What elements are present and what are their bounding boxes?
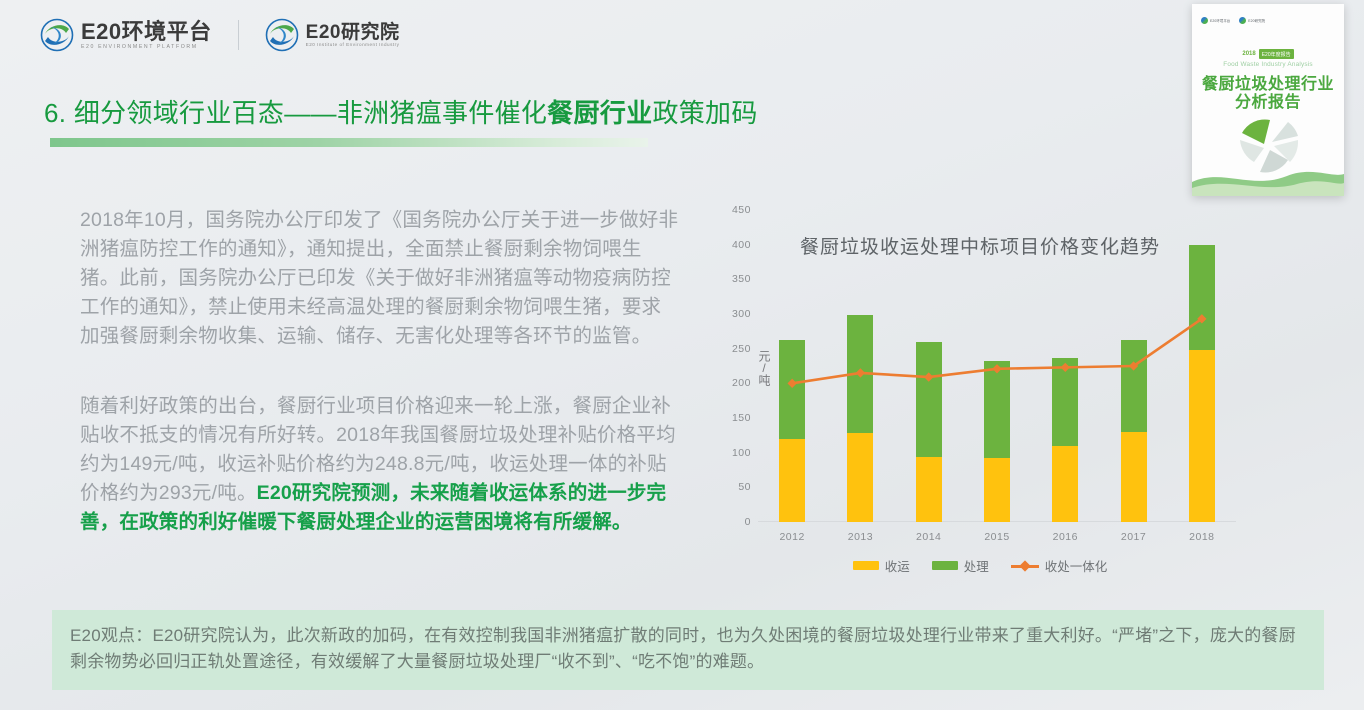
cover-logo-label: E20环境平台 [1210,18,1230,23]
logo-subtitle: E20 ENVIRONMENT PLATFORM [81,43,212,49]
e20-environment-platform-logo: E20环境平台 E20 ENVIRONMENT PLATFORM [40,18,212,52]
logo-title: E20环境平台 [81,20,212,43]
logo-row: E20环境平台 E20 ENVIRONMENT PLATFORM E20研究院 … [40,18,399,52]
logo-title: E20研究院 [306,23,400,43]
cover-logo-label: E20研究院 [1248,18,1265,23]
y-axis-tick: 300 [732,308,751,320]
section-title-bold: 餐厨行业 [547,98,652,128]
chart-plot-area: 元/吨 050100150200250300350400450 20122013… [758,210,1236,522]
x-axis-tick: 2017 [1121,531,1146,543]
legend-item[interactable]: 处理 [932,556,989,575]
y-axis-tick: 0 [745,516,751,528]
x-axis-tick: 2014 [916,531,941,543]
cover-badge: E20年度报告 [1259,49,1294,59]
x-axis-tick: 2013 [848,531,873,543]
e20-globe-icon [265,18,299,52]
legend-line-swatch [1011,561,1039,571]
legend-item[interactable]: 收处一体化 [1011,556,1108,575]
y-axis-tick: 350 [732,273,751,285]
legend-color-swatch [853,561,879,570]
page-title: 6. 细分领域行业百态——非洲猪瘟事件催化餐厨行业政策加码 [44,93,844,130]
cover-title-line-2: 分析报告 [1192,88,1344,112]
y-axis-tick: 400 [732,239,751,251]
e20-globe-icon [1239,17,1246,24]
cover-wave-decoration [1192,162,1344,196]
y-axis-tick: 100 [732,447,751,459]
x-axis-tick: 2018 [1189,531,1214,543]
logo-divider [238,20,239,50]
price-trend-chart: 餐厨垃圾收运处理中标项目价格变化趋势 元/吨 05010015020025030… [700,198,1260,588]
e20-viewpoint-note: E20观点：E20研究院认为，此次新政的加码，在有效控制我国非洲猪瘟扩散的同时，… [52,610,1324,690]
legend-label: 收运 [885,556,910,575]
legend-color-swatch [932,561,958,570]
body-paragraph-1: 2018年10月，国务院办公厅印发了《国务院办公厅关于进一步做好非洲猪瘟防控工作… [80,206,680,351]
e20-globe-icon [40,18,74,52]
x-axis-tick: 2012 [779,531,804,543]
y-axis-tick: 50 [738,481,751,493]
chart-line-series [758,210,1236,522]
cover-platform-logo: E20环境平台 [1201,17,1230,24]
title-underline-bar [50,138,648,147]
cover-year: 2018 [1242,51,1255,57]
x-axis-tick: 2015 [984,531,1009,543]
body-paragraph-2: 随着利好政策的出台，餐厨行业项目价格迎来一轮上涨，餐厨企业补贴收不抵支的情况有所… [80,392,680,537]
logo-subtitle: E20 Institute of Environment Industry [306,42,400,47]
cover-badge-row: 2018 E20年度报告 [1192,49,1344,59]
page-header: E20环境平台 E20 ENVIRONMENT PLATFORM E20研究院 … [0,0,1364,72]
cover-institute-logo: E20研究院 [1239,17,1265,24]
note-text: E20观点：E20研究院认为，此次新政的加码，在有效控制我国非洲猪瘟扩散的同时，… [70,623,1306,675]
chart-legend: 收运处理收处一体化 [700,556,1260,575]
section-title-block: 6. 细分领域行业百态——非洲猪瘟事件催化餐厨行业政策加码 [44,93,844,130]
section-title-pre: 细分领域行业百态——非洲猪瘟事件催化 [74,98,547,128]
cover-english-title: Food Waste Industry Analysis [1192,61,1344,68]
section-title-post: 政策加码 [652,98,757,128]
legend-label: 收处一体化 [1045,556,1108,575]
section-number: 6. [44,98,66,128]
y-axis-tick: 200 [732,377,751,389]
y-axis-tick: 450 [732,204,751,216]
legend-label: 处理 [964,556,989,575]
y-axis-tick: 150 [732,412,751,424]
e20-institute-logo: E20研究院 E20 Institute of Environment Indu… [265,18,400,52]
cover-logo-row: E20环境平台 E20研究院 [1201,17,1265,24]
legend-item[interactable]: 收运 [853,556,910,575]
x-axis-tick: 2016 [1053,531,1078,543]
y-axis-tick: 250 [732,343,751,355]
e20-globe-icon [1201,17,1208,24]
report-cover-thumbnail[interactable]: E20环境平台 E20研究院 2018 E20年度报告 Food Waste I… [1192,4,1344,196]
